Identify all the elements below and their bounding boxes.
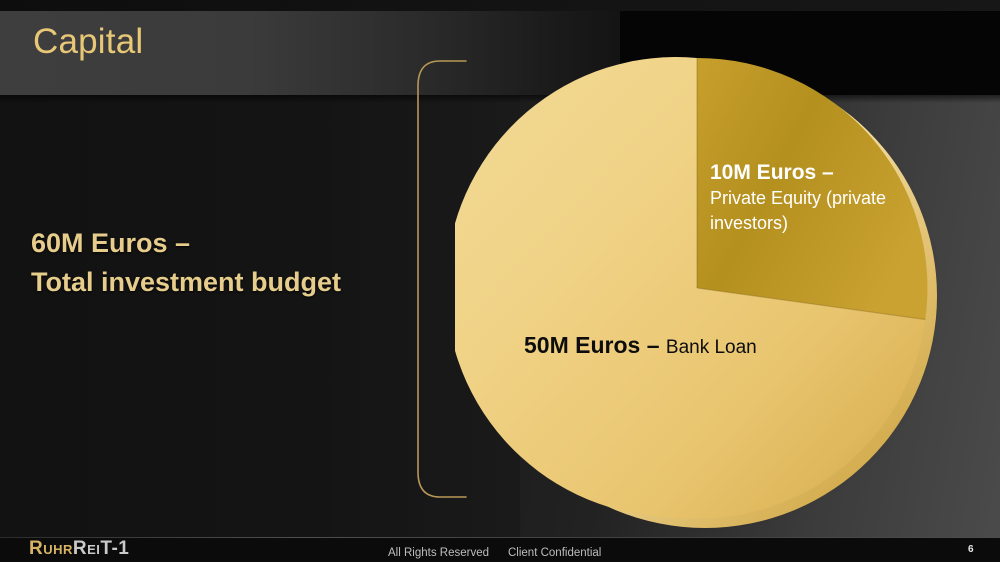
slide-canvas: Capital 60M Euros – Total investment bud… <box>0 0 1000 562</box>
pie-label-private-equity-amount: 10M Euros – <box>710 160 905 185</box>
company-logo: RuhrReiT-1 <box>29 538 129 560</box>
background-top-stripe <box>0 0 1000 11</box>
footer-band <box>0 538 1000 562</box>
pie-label-bank-loan: 50M Euros – Bank Loan <box>524 332 757 359</box>
pie-slices <box>455 57 927 519</box>
company-logo-silver-part: ReiT-1 <box>73 538 129 559</box>
total-budget-callout: 60M Euros – Total investment budget <box>31 224 411 302</box>
footer-confidential-text: Client Confidential <box>508 547 601 559</box>
total-budget-amount: 60M Euros – <box>31 224 411 263</box>
company-logo-gold-part: Ruhr <box>29 538 73 559</box>
footer-rights-text: All Rights Reserved <box>388 547 489 559</box>
pie-chart <box>455 42 945 537</box>
pie-label-private-equity: 10M Euros – Private Equity (private inve… <box>710 160 905 236</box>
total-budget-description: Total investment budget <box>31 263 411 302</box>
pie-label-bank-loan-text: Bank Loan <box>666 337 757 358</box>
page-title: Capital <box>33 22 143 62</box>
pie-label-bank-loan-amount: 50M Euros – <box>524 332 666 358</box>
page-number: 6 <box>968 544 974 555</box>
pie-label-private-equity-text: Private Equity (private investors) <box>710 188 886 233</box>
